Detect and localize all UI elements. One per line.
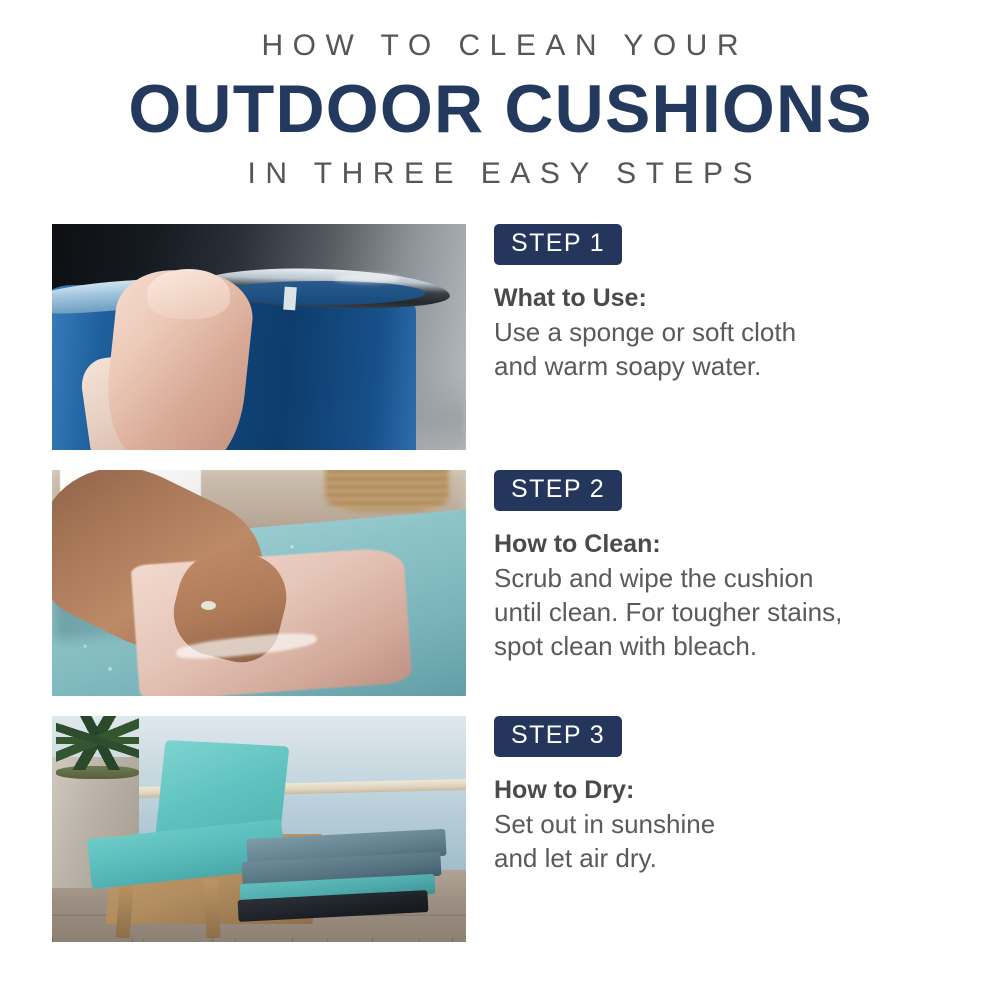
step-row: STEP 3 How to Dry: Set out in sunshine a… xyxy=(0,716,1000,942)
step-body-line: and let air dry. xyxy=(494,841,954,875)
ring xyxy=(201,601,215,610)
chaise-lounge-with-cushions-by-pool-image xyxy=(52,716,466,942)
hand-wiping-teal-cushion-with-cloth-image xyxy=(52,470,466,696)
status-badge: STEP 1 xyxy=(494,224,622,265)
bucket-rim-highlight xyxy=(334,274,400,283)
step-heading: How to Clean: xyxy=(494,529,954,560)
step-2-photo xyxy=(52,470,466,696)
step-body: Set out in sunshine and let air dry. xyxy=(494,807,954,875)
step-body-line: and warm soapy water. xyxy=(494,349,954,383)
status-badge: STEP 3 xyxy=(494,716,622,757)
infographic-header: HOW TO CLEAN YOUR OUTDOOR CUSHIONS IN TH… xyxy=(0,0,1000,194)
agave-plant xyxy=(56,716,139,770)
steps-list: STEP 1 What to Use: Use a sponge or soft… xyxy=(0,224,1000,962)
step-body-line: spot clean with bleach. xyxy=(494,629,954,663)
step-3-text: STEP 3 How to Dry: Set out in sunshine a… xyxy=(494,716,954,875)
step-3-photo xyxy=(52,716,466,942)
step-body: Use a sponge or soft cloth and warm soap… xyxy=(494,315,954,383)
step-1-photo xyxy=(52,224,466,450)
step-body-line: Use a sponge or soft cloth xyxy=(494,315,954,349)
header-eyebrow: HOW TO CLEAN YOUR xyxy=(0,26,1000,66)
bucket-clip xyxy=(283,287,297,310)
step-1-text: STEP 1 What to Use: Use a sponge or soft… xyxy=(494,224,954,383)
step-row: STEP 1 What to Use: Use a sponge or soft… xyxy=(0,224,1000,450)
step-2-text: STEP 2 How to Clean: Scrub and wipe the … xyxy=(494,470,954,663)
step-body: Scrub and wipe the cushion until clean. … xyxy=(494,561,954,663)
page-title: OUTDOOR CUSHIONS xyxy=(0,70,1000,148)
step-heading: How to Dry: xyxy=(494,775,954,806)
step-row: STEP 2 How to Clean: Scrub and wipe the … xyxy=(0,470,1000,696)
step-body-line: until clean. For tougher stains, xyxy=(494,595,954,629)
step-heading: What to Use: xyxy=(494,283,954,314)
step-body-line: Set out in sunshine xyxy=(494,807,954,841)
step-body-line: Scrub and wipe the cushion xyxy=(494,561,954,595)
hand-knuckles xyxy=(147,269,230,319)
hand-with-cloth-on-blue-bucket-image xyxy=(52,224,466,450)
status-badge: STEP 2 xyxy=(494,470,622,511)
stacked-cushions xyxy=(238,834,445,924)
header-subline: IN THREE EASY STEPS xyxy=(0,154,1000,194)
